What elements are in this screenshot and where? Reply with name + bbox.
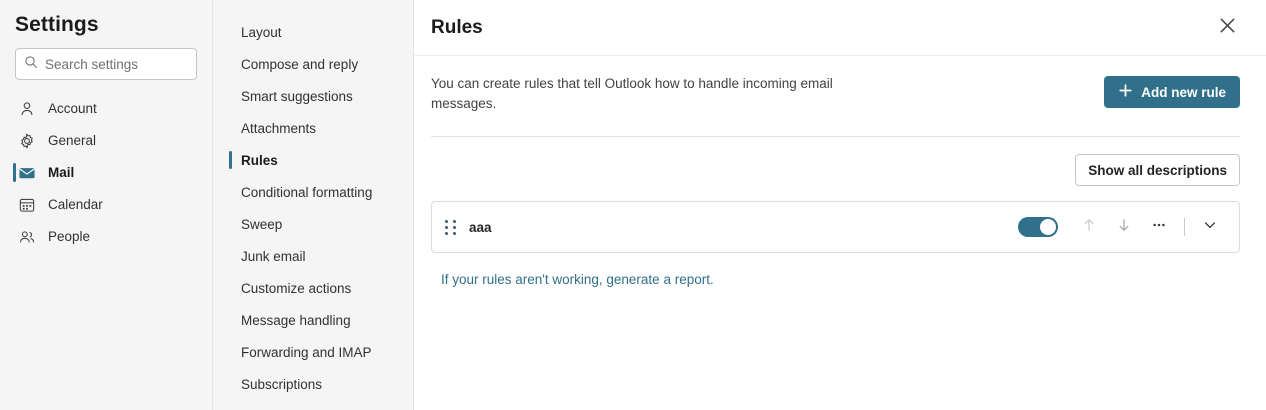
rule-row[interactable]: aaa [431,201,1240,253]
generate-report-link[interactable]: If your rules aren't working, generate a… [441,272,714,287]
subnav-item-message-handling[interactable]: Message handling [213,304,413,336]
settings-dialog: Settings Search settings Account Ge [0,0,1266,410]
person-icon [18,100,36,118]
arrow-up-icon [1081,217,1097,238]
report-line: If your rules aren't working, generate a… [414,253,1266,289]
subnav-item-compose-and-reply[interactable]: Compose and reply [213,48,413,80]
sidebar-item-label: Calendar [48,198,103,212]
rules-panel: Rules You can create rules that tell Out… [414,0,1266,410]
plus-icon [1118,83,1133,101]
sidebar-item-label: Mail [48,166,74,180]
subnav-item-layout[interactable]: Layout [213,16,413,48]
show-descriptions-row: Show all descriptions [414,137,1266,186]
move-rule-up-button[interactable] [1074,212,1104,242]
settings-rail-list: Account General Mail Calendar [0,93,212,253]
subnav-item-label: Compose and reply [241,57,358,72]
close-button[interactable] [1212,13,1242,43]
search-icon [24,55,38,74]
subnav-item-conditional-formatting[interactable]: Conditional formatting [213,176,413,208]
subnav-item-label: Attachments [241,121,316,136]
subnav-item-label: Subscriptions [241,377,322,392]
sidebar-item-calendar[interactable]: Calendar [0,189,212,221]
calendar-icon [18,196,36,214]
gear-icon [18,132,36,150]
subnav-item-label: Forwarding and IMAP [241,345,372,360]
subnav-item-rules[interactable]: Rules [213,144,413,176]
subnav-item-forwarding-and-imap[interactable]: Forwarding and IMAP [213,336,413,368]
subnav-item-label: Message handling [241,313,351,328]
toggle-knob [1040,219,1056,235]
sidebar-item-label: People [48,230,90,244]
settings-title: Settings [0,0,212,37]
subnav-item-attachments[interactable]: Attachments [213,112,413,144]
page-title: Rules [431,17,483,39]
search-input-placeholder[interactable]: Search settings [45,57,138,72]
rule-enabled-toggle[interactable] [1018,217,1058,237]
subnav-item-label: Customize actions [241,281,351,296]
close-icon [1219,17,1236,39]
move-rule-down-button[interactable] [1109,212,1139,242]
actions-separator [1184,218,1185,236]
add-new-rule-label: Add new rule [1141,85,1226,100]
rule-name: aaa [469,220,492,235]
chevron-down-icon [1202,217,1218,238]
sidebar-item-mail[interactable]: Mail [0,157,212,189]
search-settings-box[interactable]: Search settings [15,48,197,80]
add-new-rule-button[interactable]: Add new rule [1104,76,1240,108]
panel-header: Rules [414,0,1266,56]
sidebar-item-label: General [48,134,96,148]
sidebar-item-label: Account [48,102,97,116]
rules-description-row: You can create rules that tell Outlook h… [414,56,1266,114]
rules-description: You can create rules that tell Outlook h… [431,74,861,114]
sidebar-item-account[interactable]: Account [0,93,212,125]
sidebar-item-general[interactable]: General [0,125,212,157]
subnav-item-label: Junk email [241,249,306,264]
subnav-item-customize-actions[interactable]: Customize actions [213,272,413,304]
subnav-item-label: Rules [241,153,278,168]
search-settings-container: Search settings [0,37,212,80]
subnav-item-junk-email[interactable]: Junk email [213,240,413,272]
rule-actions [1018,212,1225,242]
envelope-icon [18,164,36,182]
rules-list: aaa [414,186,1266,253]
subnav-item-smart-suggestions[interactable]: Smart suggestions [213,80,413,112]
sidebar-item-people[interactable]: People [0,221,212,253]
subnav-item-label: Smart suggestions [241,89,353,104]
subnav-item-sweep[interactable]: Sweep [213,208,413,240]
show-all-descriptions-button[interactable]: Show all descriptions [1075,154,1240,186]
drag-handle-icon[interactable] [443,218,458,237]
rule-more-options-button[interactable] [1144,212,1174,242]
settings-rail: Settings Search settings Account Ge [0,0,213,410]
expand-rule-button[interactable] [1195,212,1225,242]
people-icon [18,228,36,246]
subnav-item-subscriptions[interactable]: Subscriptions [213,368,413,400]
subnav-item-label: Conditional formatting [241,185,372,200]
more-options-icon [1151,217,1167,238]
mail-subnav: Layout Compose and reply Smart suggestio… [213,0,414,410]
arrow-down-icon [1116,217,1132,238]
subnav-item-label: Sweep [241,217,282,232]
subnav-item-label: Layout [241,25,282,40]
